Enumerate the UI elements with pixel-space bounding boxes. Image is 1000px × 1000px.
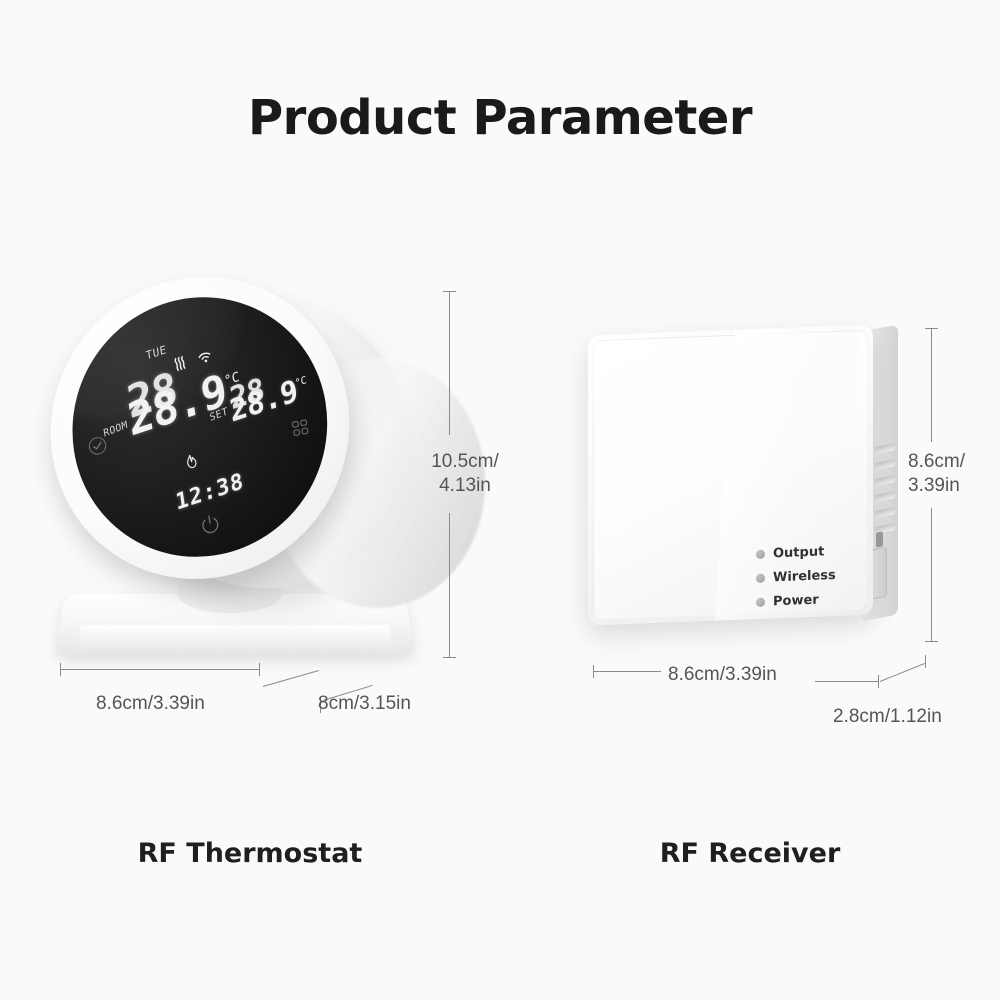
- wireless-led-label: Wireless: [773, 568, 836, 585]
- led-row: Wireless: [756, 568, 836, 586]
- thermostat-screen[interactable]: TUE: [54, 275, 346, 579]
- output-led-icon: [756, 550, 765, 559]
- lcd-room-label: ROOM: [103, 420, 129, 440]
- thermostat-width-label: 8.6cm/3.39in: [96, 692, 205, 716]
- receiver-vent: [875, 475, 895, 486]
- receiver-vent: [875, 491, 895, 502]
- thermostat-depth-label: 8cm/3.15in: [318, 692, 411, 716]
- lcd-room-temperature-ghost: 28: [125, 371, 179, 423]
- receiver-caption: RF Receiver: [590, 838, 910, 869]
- power-led-icon: [756, 598, 765, 607]
- wifi-icon: [197, 349, 215, 365]
- heat-waves-icon: [172, 354, 191, 373]
- receiver-led-list: Output Wireless Power: [756, 544, 836, 619]
- power-led-label: Power: [773, 593, 819, 610]
- receiver-side-port: [872, 547, 887, 600]
- flame-icon: [183, 452, 201, 475]
- receiver-vent: [875, 507, 895, 518]
- receiver-height-label: 8.6cm/ 3.39in: [908, 450, 992, 498]
- lcd-set-unit: °C: [294, 375, 307, 390]
- led-row: Power: [756, 592, 836, 610]
- receiver-depth-label: 2.8cm/1.12in: [833, 705, 942, 729]
- lcd-set-label: SET: [209, 406, 229, 424]
- receiver-vent: [875, 443, 895, 454]
- wireless-led-icon: [756, 574, 765, 583]
- product-parameter-page: Product Parameter TUE: [0, 0, 1000, 1000]
- check-circle-icon[interactable]: [86, 434, 110, 463]
- receiver-vent: [875, 459, 895, 470]
- receiver-front-panel: Output Wireless Power: [588, 325, 873, 626]
- grid-menu-icon[interactable]: [290, 417, 311, 443]
- power-icon[interactable]: [198, 512, 224, 543]
- receiver-width-label: 8.6cm/3.39in: [668, 663, 777, 687]
- thermostat-figure: TUE: [40, 270, 460, 690]
- thermostat-height-label: 10.5cm/ 4.13in: [425, 450, 505, 498]
- lcd-day-indicator: TUE: [145, 343, 167, 363]
- page-title: Product Parameter: [0, 90, 1000, 146]
- receiver-figure: Output Wireless Power: [580, 310, 920, 650]
- lcd-set-temperature-ghost: 28: [228, 377, 266, 413]
- lcd-clock: 12:38: [174, 469, 246, 516]
- receiver-port-tab: [876, 531, 883, 547]
- led-row: Output: [756, 544, 836, 562]
- lcd-set-temperature: 28 28.9: [228, 378, 299, 425]
- output-led-label: Output: [773, 544, 824, 561]
- thermostat-caption: RF Thermostat: [90, 838, 410, 869]
